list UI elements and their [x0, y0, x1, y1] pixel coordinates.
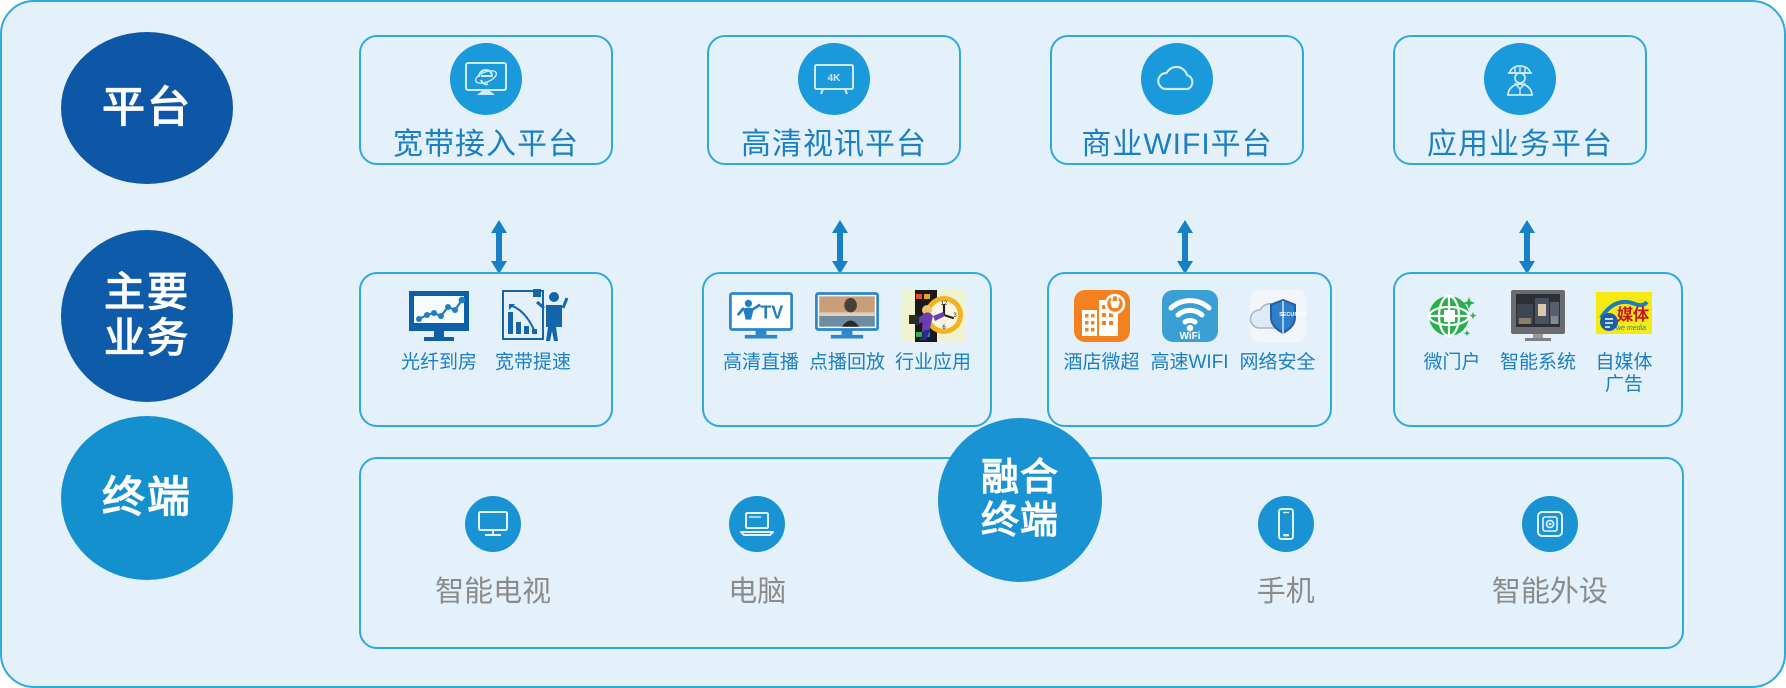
svg-text:SECURITY: SECURITY [1279, 312, 1307, 318]
business-card-broadband[interactable]: 光纤到房 宽带提速 [359, 272, 613, 427]
business-item-smart-system[interactable]: 智能系统 [1498, 288, 1578, 374]
platform-card-video[interactable]: 4K 高清视讯平台 [707, 35, 961, 165]
browser-tv-icon [450, 43, 522, 115]
terminal-hub-line1: 融合 [981, 457, 1059, 500]
business-item-live[interactable]: TV 高清直播 [721, 288, 801, 374]
smart-room-icon [1502, 288, 1574, 344]
category-platform[interactable]: 平台 [61, 32, 233, 184]
business-label-live: 高清直播 [723, 352, 799, 374]
terminal-item-computer[interactable]: 电脑 [625, 496, 889, 610]
media-ad-line2: 广告 [1605, 374, 1643, 395]
business-item-vod[interactable]: 点播回放 [807, 288, 887, 374]
terminal-label-phone: 手机 [1257, 568, 1315, 610]
cloud-icon [1141, 43, 1213, 115]
category-main-business[interactable]: 主要 业务 [61, 230, 233, 402]
business-item-industry[interactable]: 12 3 6 行业应用 [893, 288, 973, 374]
business-item-network-security[interactable]: SECURITY 网络安全 [1238, 288, 1318, 374]
business-item-portal[interactable]: 微门户 [1412, 288, 1492, 374]
svg-text:4K: 4K [828, 73, 842, 84]
category-platform-label: 平台 [102, 84, 192, 132]
diagram-root: 平台 主要 业务 终端 宽带接入平台 4K [0, 0, 1786, 688]
category-terminal[interactable]: 终端 [61, 416, 233, 580]
business-item-fiber[interactable]: 光纤到房 [399, 288, 479, 374]
arrow-application [1516, 220, 1538, 274]
terminal-hub-circle[interactable]: 融合 终端 [938, 418, 1102, 582]
arrow-wifi [1174, 220, 1196, 274]
video-screen-icon [811, 288, 883, 344]
arrow-broadband [488, 220, 510, 274]
business-card-video[interactable]: TV 高清直播 [702, 272, 992, 427]
green-globe-icon [1416, 288, 1488, 344]
4k-tv-icon: 4K [798, 43, 870, 115]
wifi-badge-icon: WiFi [1154, 288, 1226, 344]
phone-icon [1258, 496, 1314, 552]
business-label-vod: 点播回放 [809, 352, 885, 374]
platform-card-application[interactable]: 应用业务平台 [1393, 35, 1647, 165]
business-label-speedup: 宽带提速 [495, 352, 571, 374]
business-label-fast-wifi: 高速WIFI [1150, 352, 1228, 374]
category-business-line2: 业务 [104, 316, 190, 362]
business-label-network-security: 网络安全 [1239, 352, 1315, 374]
terminal-label-smart-tv: 智能电视 [435, 568, 551, 610]
arrow-video [829, 220, 851, 274]
platform-card-wifi[interactable]: 商业WIFI平台 [1050, 35, 1304, 165]
clock-app-icon: 12 3 6 [897, 288, 969, 344]
hotel-store-icon [1066, 288, 1138, 344]
svg-text:媒体: 媒体 [1617, 305, 1650, 324]
media-ad-line1: 自媒体 [1595, 352, 1652, 373]
business-card-application[interactable]: 微门户 智能系统 [1393, 272, 1683, 427]
business-item-media-ad[interactable]: 媒体 we media 自媒体 广告 [1584, 288, 1664, 396]
monitor-chart-icon [403, 288, 475, 344]
report-person-icon [497, 288, 569, 344]
media-ad-icon: 媒体 we media [1588, 288, 1660, 344]
business-label-portal: 微门户 [1423, 352, 1480, 374]
svg-text:TV: TV [760, 303, 783, 323]
platform-label-wifi: 商业WIFI平台 [1081, 119, 1272, 163]
business-label-fiber: 光纤到房 [401, 352, 477, 374]
platform-label-broadband: 宽带接入平台 [393, 119, 579, 163]
terminal-item-phone[interactable]: 手机 [1154, 496, 1418, 610]
laptop-icon [729, 496, 785, 552]
category-business-line1: 主要 [104, 270, 190, 316]
svg-text:WiFi: WiFi [1179, 331, 1200, 342]
terminal-hub-line2: 终端 [981, 500, 1059, 543]
business-label-media-ad: 自媒体 广告 [1595, 352, 1652, 396]
business-label-industry: 行业应用 [895, 352, 971, 374]
terminal-item-smart-tv[interactable]: 智能电视 [361, 496, 625, 610]
platform-label-application: 应用业务平台 [1427, 119, 1613, 163]
category-terminal-label: 终端 [102, 474, 192, 522]
network-security-icon: SECURITY [1242, 288, 1314, 344]
business-item-hotel-store[interactable]: 酒店微超 [1062, 288, 1142, 374]
terminal-label-computer: 电脑 [728, 568, 786, 610]
itv-screen-icon: TV [725, 288, 797, 344]
platform-card-broadband[interactable]: 宽带接入平台 [359, 35, 613, 165]
business-item-fast-wifi[interactable]: WiFi 高速WIFI [1150, 288, 1230, 374]
terminal-item-peripheral[interactable]: 智能外设 [1418, 496, 1682, 610]
tv-icon [465, 496, 521, 552]
business-card-wifi[interactable]: 酒店微超 WiFi 高速WIFI [1047, 272, 1332, 427]
terminal-label-peripheral: 智能外设 [1492, 568, 1608, 610]
peripheral-icon [1522, 496, 1578, 552]
business-item-speedup[interactable]: 宽带提速 [493, 288, 573, 374]
svg-text:12: 12 [941, 301, 948, 307]
platform-label-video: 高清视讯平台 [741, 119, 927, 163]
engineer-icon [1484, 43, 1556, 115]
category-main-business-label: 主要 业务 [104, 270, 190, 362]
svg-text:we media: we media [1616, 325, 1646, 332]
business-label-smart-system: 智能系统 [1500, 352, 1576, 374]
business-label-hotel-store: 酒店微超 [1063, 352, 1139, 374]
